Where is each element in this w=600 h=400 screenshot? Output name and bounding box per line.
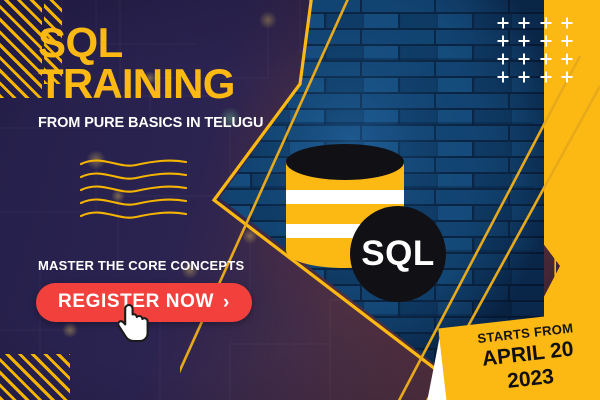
plus-icon: [492, 50, 514, 68]
plus-icon: [492, 68, 514, 86]
title-line-sql: SQL: [38, 22, 288, 63]
plus-icon: [535, 68, 557, 86]
date-badge: STARTS FROM APRIL 20 2023: [438, 309, 600, 400]
plus-icon: [535, 32, 557, 50]
register-now-button[interactable]: REGISTER NOW ›: [36, 283, 252, 322]
sql-badge-text: SQL: [361, 234, 434, 274]
date-badge-wrapper: STARTS FROM APRIL 20 2023: [426, 322, 600, 400]
cta-tagline: MASTER THE CORE CONCEPTS: [38, 258, 266, 273]
plus-icon: [514, 50, 536, 68]
sql-badge: SQL: [350, 206, 446, 302]
headline-block: SQL TRAINING FROM PURE BASICS IN TELUGU: [38, 22, 288, 131]
diagonal-stripes-bottom-left: [0, 354, 70, 400]
plus-icon: [492, 14, 514, 32]
plus-icon: [557, 32, 579, 50]
register-now-label: REGISTER NOW: [58, 291, 214, 313]
plus-icon: [557, 50, 579, 68]
plus-icon: [492, 32, 514, 50]
title-line-training: TRAINING: [38, 63, 288, 106]
wave-lines-decoration: [78, 155, 190, 227]
chevron-right-icon: ›: [223, 293, 230, 312]
cta-block: MASTER THE CORE CONCEPTS REGISTER NOW ›: [36, 258, 266, 322]
plus-icon: [514, 14, 536, 32]
headline-subtitle: FROM PURE BASICS IN TELUGU: [38, 115, 288, 131]
plus-pattern: [492, 14, 578, 86]
diagonal-stripes-top-left: [0, 0, 42, 98]
plus-icon: [535, 50, 557, 68]
plus-icon: [557, 68, 579, 86]
sql-training-banner: SQL SQL TRAINING FROM PURE BASICS IN TEL…: [0, 0, 600, 400]
plus-icon: [557, 14, 579, 32]
plus-icon: [514, 32, 536, 50]
plus-icon: [514, 68, 536, 86]
plus-icon: [535, 14, 557, 32]
